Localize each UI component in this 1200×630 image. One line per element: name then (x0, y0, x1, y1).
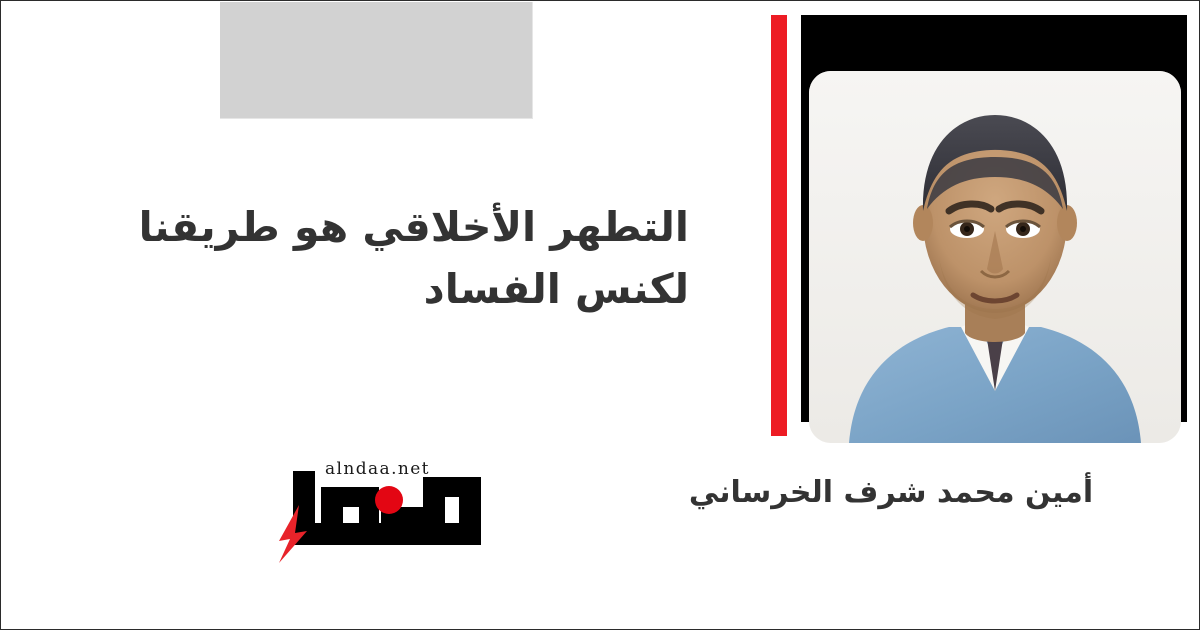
author-byline: أمين محمد شرف الخرساني (641, 472, 1141, 514)
article-share-card: التطهر الأخلاقي هو طريقنا لكنس الفساد (0, 0, 1200, 630)
headline-line-1: التطهر الأخلاقي هو طريقنا (89, 197, 689, 259)
site-logo[interactable]: alndaa.net (273, 453, 495, 569)
image-placeholder (220, 2, 533, 119)
logo-dot-icon (375, 486, 403, 514)
headline-line-2: لكنس الفساد (89, 259, 689, 321)
author-photo-frame (809, 71, 1181, 443)
portrait-media-block (769, 14, 1189, 444)
headline: التطهر الأخلاقي هو طريقنا لكنس الفساد (89, 197, 689, 320)
site-url-text: alndaa.net (325, 459, 430, 479)
author-portrait (809, 71, 1181, 443)
accent-bar (771, 15, 787, 436)
